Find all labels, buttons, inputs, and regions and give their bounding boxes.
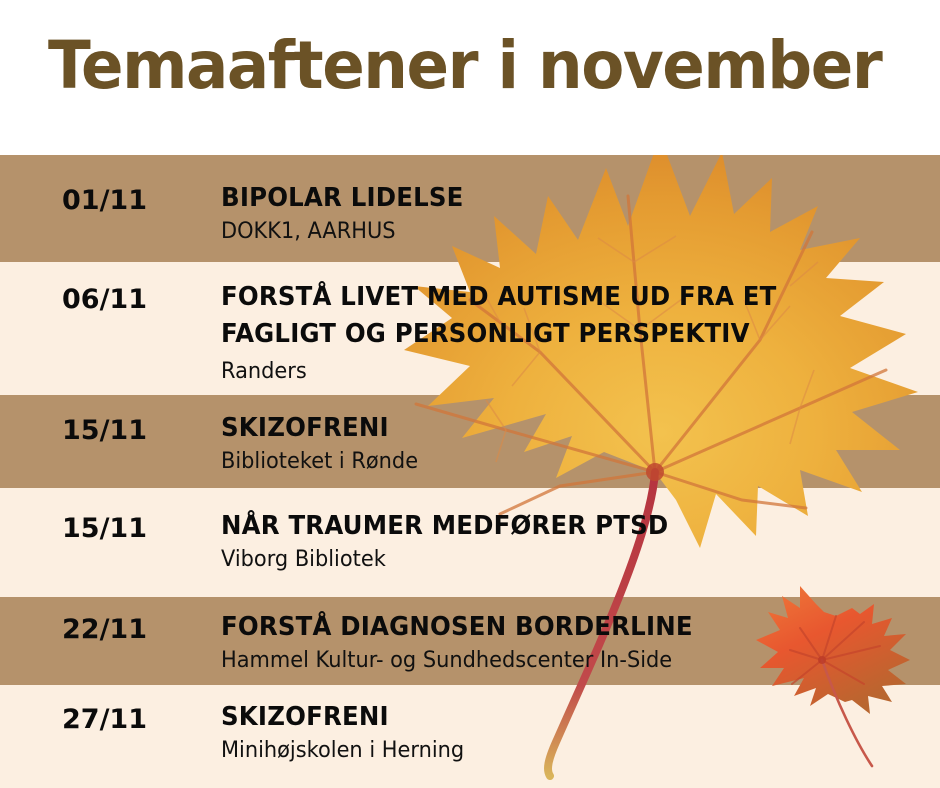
poster-header: Temaaftener i november: [0, 0, 940, 155]
event-venue: Hammel Kultur- og Sundhedscenter In-Side: [221, 647, 895, 675]
event-venue: Biblioteket i Rønde: [221, 448, 895, 476]
event-details: FORSTÅ DIAGNOSEN BORDERLINE Hammel Kultu…: [221, 611, 930, 675]
event-row[interactable]: 27/11 SKIZOFRENI Minihøjskolen i Herning: [0, 685, 940, 788]
event-venue: Viborg Bibliotek: [221, 546, 895, 574]
event-row[interactable]: 01/11 BIPOLAR LIDELSE DOKK1, AARHUS: [0, 155, 940, 262]
event-details: FORSTÅ LIVET MED AUTISME UD FRA ET FAGLI…: [221, 281, 930, 386]
event-details: SKIZOFRENI Minihøjskolen i Herning: [221, 701, 930, 765]
event-row[interactable]: 06/11 FORSTÅ LIVET MED AUTISME UD FRA ET…: [0, 262, 940, 395]
event-venue: Randers: [221, 358, 895, 386]
event-venue: DOKK1, AARHUS: [221, 218, 895, 246]
page-title: Temaaftener i november: [48, 28, 881, 104]
event-date: 27/11: [62, 704, 147, 735]
event-title: FORSTÅ LIVET MED AUTISME UD FRA ET: [221, 281, 887, 314]
event-row[interactable]: 15/11 NÅR TRAUMER MEDFØRER PTSD Viborg B…: [0, 488, 940, 597]
event-date: 06/11: [62, 284, 147, 315]
event-row[interactable]: 15/11 SKIZOFRENI Biblioteket i Rønde: [0, 395, 940, 488]
event-details: SKIZOFRENI Biblioteket i Rønde: [221, 412, 930, 476]
event-title: BIPOLAR LIDELSE: [221, 182, 887, 215]
event-title: SKIZOFRENI: [221, 701, 887, 734]
event-row[interactable]: 22/11 FORSTÅ DIAGNOSEN BORDERLINE Hammel…: [0, 597, 940, 685]
event-title-line2: FAGLIGT OG PERSONLIGT PERSPEKTIV: [221, 318, 887, 351]
event-details: NÅR TRAUMER MEDFØRER PTSD Viborg Bibliot…: [221, 510, 930, 574]
event-title: FORSTÅ DIAGNOSEN BORDERLINE: [221, 611, 887, 644]
event-date: 15/11: [62, 513, 147, 544]
poster-canvas: Temaaftener i november 01/11 BIPOLAR LID…: [0, 0, 940, 788]
event-date: 15/11: [62, 415, 147, 446]
event-title: NÅR TRAUMER MEDFØRER PTSD: [221, 510, 887, 543]
event-date: 01/11: [62, 185, 147, 216]
event-date: 22/11: [62, 614, 147, 645]
event-venue: Minihøjskolen i Herning: [221, 737, 895, 765]
event-title: SKIZOFRENI: [221, 412, 887, 445]
event-details: BIPOLAR LIDELSE DOKK1, AARHUS: [221, 182, 930, 246]
